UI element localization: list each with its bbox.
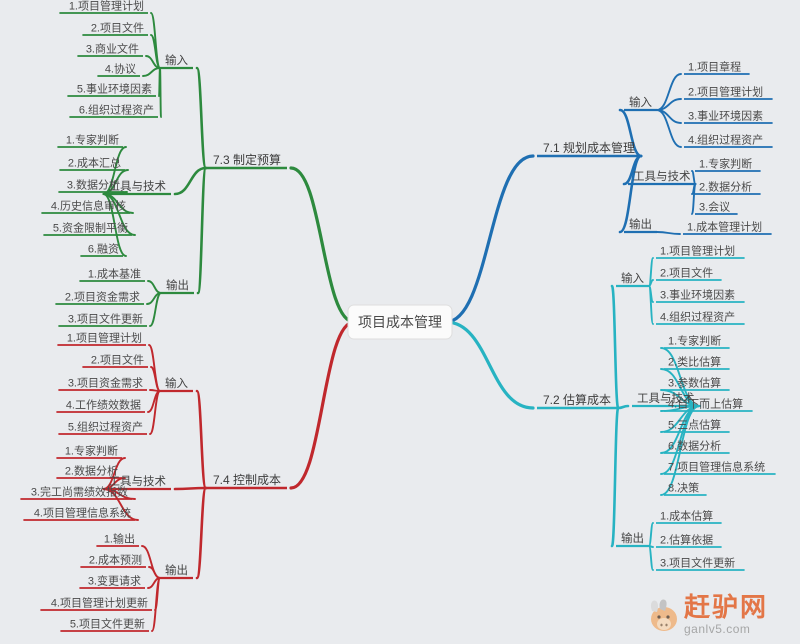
leaf-label-b72-2-1[interactable]: 2.估算依据 bbox=[660, 533, 713, 547]
edge-b71-1-leaf-2 bbox=[692, 184, 696, 214]
leaf-label-b74-2-1[interactable]: 2.成本预测 bbox=[89, 553, 142, 567]
leaf-label-b72-1-1[interactable]: 2.类比估算 bbox=[668, 355, 721, 369]
edge-root-to-b74 bbox=[291, 322, 354, 488]
edge-b72-group-1 bbox=[618, 406, 628, 408]
leaf-label-b73-0-2[interactable]: 3.商业文件 bbox=[86, 42, 139, 56]
leaf-label-b74-1-1[interactable]: 2.数据分析 bbox=[65, 464, 118, 478]
edge-b73-0-leaf-5 bbox=[160, 68, 161, 117]
leaf-label-b73-1-2[interactable]: 3.数据分析 bbox=[67, 178, 120, 192]
edge-root-to-b72 bbox=[446, 322, 533, 408]
leaf-label-b73-0-5[interactable]: 6.组织过程资产 bbox=[79, 103, 154, 117]
leaf-label-b73-0-3[interactable]: 4.协议 bbox=[105, 62, 136, 76]
leaf-label-b73-2-0[interactable]: 1.成本基准 bbox=[88, 267, 141, 281]
leaf-label-b72-0-0[interactable]: 1.项目管理计划 bbox=[660, 244, 735, 258]
leaf-label-b73-1-4[interactable]: 5.资金限制平衡 bbox=[53, 221, 128, 235]
leaf-label-b74-0-2[interactable]: 3.项目资金需求 bbox=[68, 376, 143, 390]
leaf-label-b74-2-3[interactable]: 4.项目管理计划更新 bbox=[51, 596, 148, 610]
leaf-label-b71-0-3[interactable]: 4.组织过程资产 bbox=[688, 133, 763, 147]
leaf-label-b71-1-0[interactable]: 1.专家判断 bbox=[699, 157, 752, 171]
edge-b74-0-leaf-0 bbox=[149, 345, 160, 391]
leaf-label-b72-0-2[interactable]: 3.事业环境因素 bbox=[660, 288, 735, 302]
leaf-label-b71-1-2[interactable]: 3.会议 bbox=[699, 201, 730, 214]
group-label-b71-1[interactable]: 工具与技术 bbox=[633, 170, 691, 183]
leaf-label-b74-1-0[interactable]: 1.专家判断 bbox=[65, 444, 118, 458]
leaf-label-b73-1-5[interactable]: 6.融资 bbox=[88, 243, 119, 256]
root-node[interactable]: 项目成本管理 bbox=[348, 305, 452, 339]
leaf-label-b73-1-1[interactable]: 2.成本汇总 bbox=[68, 156, 121, 170]
branch-label-b71[interactable]: 7.1 规划成本管理 bbox=[543, 140, 635, 155]
leaf-label-b72-1-0[interactable]: 1.专家判断 bbox=[668, 334, 721, 348]
group-label-b72-0[interactable]: 输入 bbox=[621, 271, 644, 285]
leaf-label-b73-2-1[interactable]: 2.项目资金需求 bbox=[65, 290, 140, 304]
edge-b73-group-0 bbox=[197, 68, 206, 168]
group-label-b71-2[interactable]: 输出 bbox=[629, 217, 652, 231]
leaf-label-b72-1-6[interactable]: 7.项目管理信息系统 bbox=[668, 460, 765, 474]
edge-b72-2-leaf-2 bbox=[649, 546, 653, 570]
leaf-label-b71-2-0[interactable]: 1.成本管理计划 bbox=[687, 220, 762, 234]
leaf-label-b74-2-2[interactable]: 3.变更请求 bbox=[88, 574, 141, 588]
leaf-label-b72-0-1[interactable]: 2.项目文件 bbox=[660, 266, 713, 280]
edge-b73-0-leaf-3 bbox=[143, 68, 160, 76]
root-label: 项目成本管理 bbox=[358, 314, 442, 330]
group-label-b74-2[interactable]: 输出 bbox=[165, 563, 188, 577]
edge-b74-group-1 bbox=[175, 488, 206, 489]
edge-b72-group-0 bbox=[612, 286, 618, 408]
group-label-b71-0[interactable]: 输入 bbox=[629, 95, 652, 109]
branch-label-b74[interactable]: 7.4 控制成本 bbox=[213, 473, 281, 487]
edge-b73-group-2 bbox=[198, 168, 206, 293]
branch-label-b73[interactable]: 7.3 制定预算 bbox=[213, 152, 281, 167]
leaf-label-b72-2-0[interactable]: 1.成本估算 bbox=[660, 509, 713, 523]
leaf-label-b73-0-4[interactable]: 5.事业环境因素 bbox=[77, 82, 152, 96]
edge-root-to-b71 bbox=[446, 156, 533, 322]
leaf-label-b74-2-4[interactable]: 5.项目文件更新 bbox=[70, 617, 145, 631]
edge-b72-2-leaf-0 bbox=[649, 523, 653, 546]
edge-b73-group-1 bbox=[175, 168, 206, 194]
leaf-label-b71-1-1[interactable]: 2.数据分析 bbox=[699, 180, 752, 194]
group-label-b73-2[interactable]: 输出 bbox=[166, 278, 189, 292]
leaf-label-b72-2-2[interactable]: 3.项目文件更新 bbox=[660, 556, 735, 570]
leaf-label-b73-2-2[interactable]: 3.项目文件更新 bbox=[68, 312, 143, 326]
leaf-label-b74-1-3[interactable]: 4.项目管理信息系统 bbox=[34, 506, 131, 520]
leaf-label-b74-0-0[interactable]: 1.项目管理计划 bbox=[67, 331, 142, 345]
leaf-label-b74-2-0[interactable]: 1.输出 bbox=[104, 532, 135, 546]
edge-b71-1-leaf-0 bbox=[692, 171, 696, 184]
leaf-label-b73-0-0[interactable]: 1.项目管理计划 bbox=[69, 0, 144, 13]
leaf-label-b72-1-5[interactable]: 6.数据分析 bbox=[668, 439, 721, 453]
edge-b74-group-0 bbox=[197, 391, 206, 488]
edge-b71-2-leaf-0 bbox=[657, 232, 680, 234]
leaf-label-b74-0-4[interactable]: 5.组织过程资产 bbox=[68, 420, 143, 434]
leaf-label-b73-1-3[interactable]: 4.历史信息审核 bbox=[51, 199, 126, 213]
edge-root-to-b73 bbox=[291, 168, 354, 322]
edge-b73-2-leaf-0 bbox=[148, 281, 161, 293]
leaf-label-b73-0-1[interactable]: 2.项目文件 bbox=[91, 21, 144, 35]
leaf-label-b71-0-2[interactable]: 3.事业环境因素 bbox=[688, 109, 763, 123]
group-label-b73-0[interactable]: 输入 bbox=[165, 53, 188, 67]
leaf-label-b72-1-3[interactable]: 4.自下而上估算 bbox=[668, 397, 743, 411]
edge-b74-2-leaf-0 bbox=[142, 546, 160, 578]
group-label-b72-2[interactable]: 输出 bbox=[621, 531, 644, 545]
leaf-label-b72-1-7[interactable]: 8.决策 bbox=[668, 481, 699, 495]
group-label-b74-0[interactable]: 输入 bbox=[165, 376, 188, 390]
branch-label-b72[interactable]: 7.2 估算成本 bbox=[543, 392, 611, 407]
mindmap-canvas: 7.3 制定预算输入1.项目管理计划2.项目文件3.商业文件4.协议5.事业环境… bbox=[0, 0, 800, 644]
leaf-label-b74-0-1[interactable]: 2.项目文件 bbox=[91, 353, 144, 367]
leaf-label-b74-0-3[interactable]: 4.工作绩效数据 bbox=[66, 398, 141, 412]
leaf-label-b71-0-1[interactable]: 2.项目管理计划 bbox=[688, 85, 763, 99]
leaf-label-b72-0-3[interactable]: 4.组织过程资产 bbox=[660, 310, 735, 324]
leaf-label-b73-1-0[interactable]: 1.专家判断 bbox=[66, 133, 119, 147]
leaf-label-b71-0-0[interactable]: 1.项目章程 bbox=[688, 60, 741, 74]
edge-b74-group-2 bbox=[197, 488, 206, 578]
leaf-label-b74-1-2[interactable]: 3.完工尚需绩效指数 bbox=[31, 485, 128, 499]
leaf-label-b72-1-2[interactable]: 3.参数估算 bbox=[668, 376, 721, 390]
leaf-label-b72-1-4[interactable]: 5.三点估算 bbox=[668, 418, 721, 432]
edge-b72-group-2 bbox=[612, 408, 618, 546]
